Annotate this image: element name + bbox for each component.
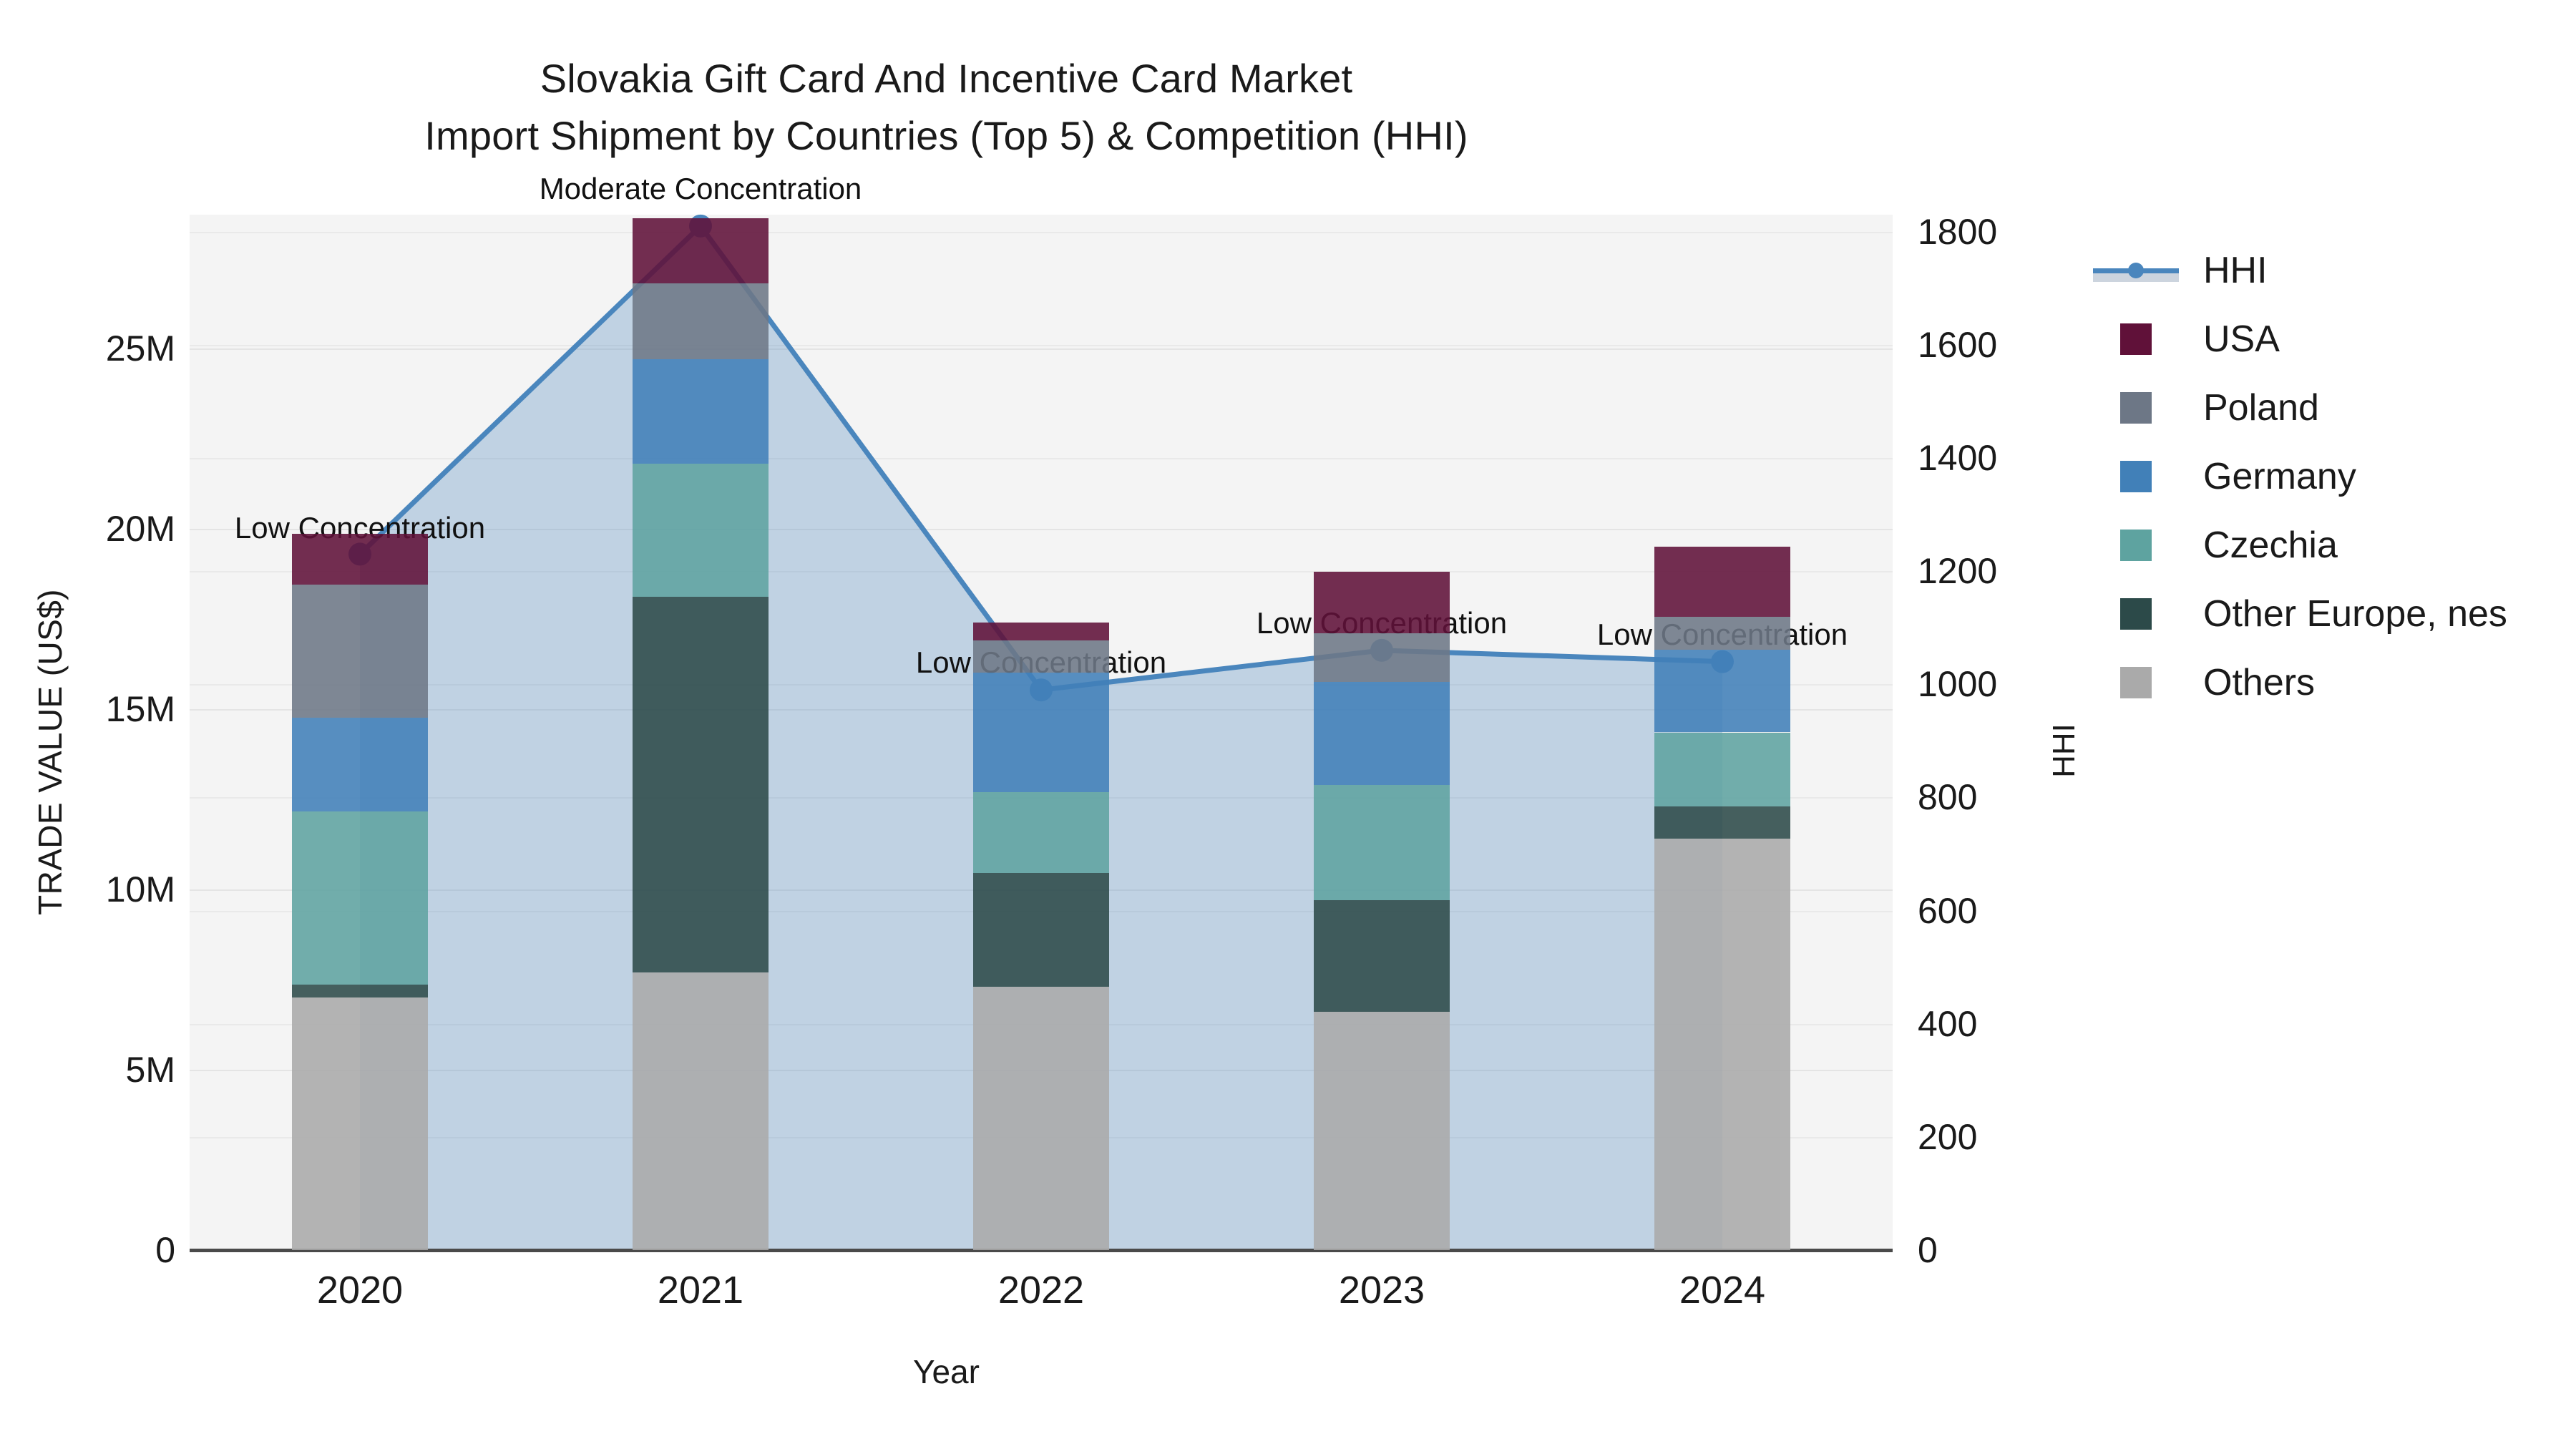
bar-segment[interactable] — [1314, 682, 1450, 785]
bar-segment[interactable] — [292, 534, 428, 585]
bar-segment[interactable] — [633, 464, 769, 597]
bar-segment[interactable] — [292, 985, 428, 997]
bar-segment[interactable] — [973, 640, 1109, 673]
bar-segment[interactable] — [1314, 633, 1450, 682]
bar-segment[interactable] — [633, 218, 769, 283]
bar-layer — [0, 0, 2576, 1449]
bar-segment[interactable] — [1654, 650, 1790, 733]
bar-segment[interactable] — [1654, 733, 1790, 806]
bar-segment[interactable] — [973, 987, 1109, 1250]
bar-segment[interactable] — [633, 972, 769, 1250]
bar-segment[interactable] — [1314, 572, 1450, 633]
bar-segment[interactable] — [633, 283, 769, 359]
bar-segment[interactable] — [633, 597, 769, 972]
bar-segment[interactable] — [633, 359, 769, 464]
bar-segment[interactable] — [973, 873, 1109, 987]
bar-segment[interactable] — [1314, 1012, 1450, 1250]
bar-segment[interactable] — [1654, 617, 1790, 649]
chart-figure: Slovakia Gift Card And Incentive Card Ma… — [0, 0, 2576, 1449]
bar-segment[interactable] — [1654, 547, 1790, 617]
bar-segment[interactable] — [1654, 806, 1790, 839]
bar-segment[interactable] — [292, 718, 428, 811]
bar-segment[interactable] — [292, 585, 428, 718]
bar-segment[interactable] — [292, 811, 428, 985]
bar-segment[interactable] — [973, 673, 1109, 791]
bar-segment[interactable] — [973, 623, 1109, 640]
bar-segment[interactable] — [1314, 785, 1450, 900]
bar-segment[interactable] — [1654, 839, 1790, 1250]
bar-segment[interactable] — [973, 792, 1109, 873]
bar-segment[interactable] — [1314, 900, 1450, 1012]
bar-segment[interactable] — [292, 997, 428, 1250]
